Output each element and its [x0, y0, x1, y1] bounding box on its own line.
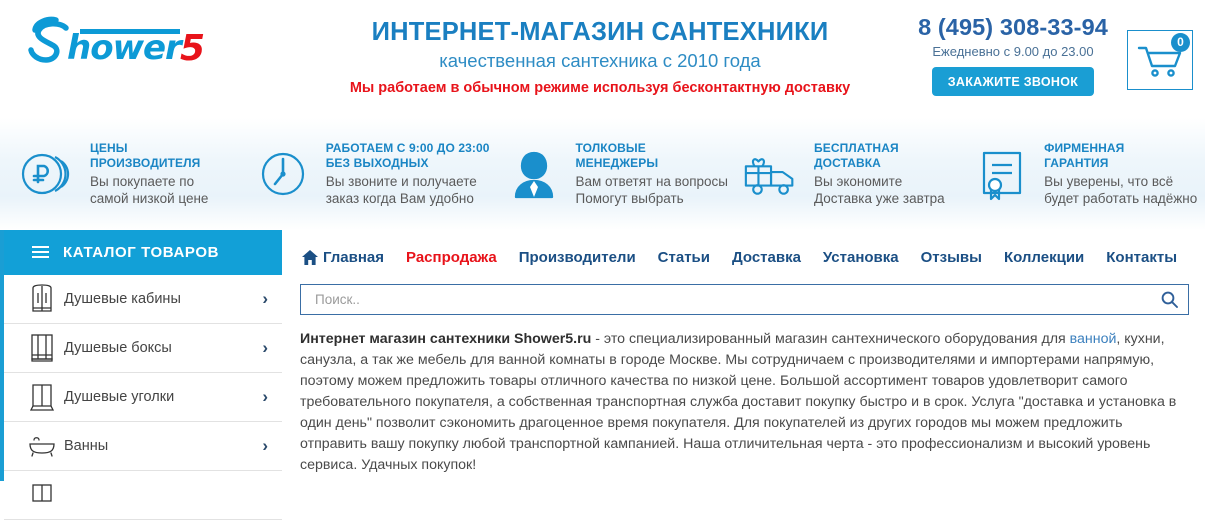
main-navigation: Главная Распродажа Производители Статьи …	[300, 242, 1189, 272]
benefit-desc-2: заказ когда Вам удобно	[326, 191, 490, 207]
callback-button[interactable]: ЗАКАЖИТЕ ЗВОНОК	[932, 67, 1094, 97]
catalog-header[interactable]: КАТАЛОГ ТОВАРОВ	[4, 230, 282, 275]
sidebar-item-partial[interactable]	[4, 471, 282, 520]
sidebar-item-label: Душевые боксы	[64, 340, 262, 356]
nav-item-contacts[interactable]: Контакты	[1106, 249, 1177, 266]
benefit-item-guarantee: ФИРМЕННАЯ ГАРАНТИЯ Вы уверены, что всё б…	[958, 141, 1205, 207]
search-bar[interactable]	[300, 284, 1189, 315]
cabinet-icon	[26, 482, 58, 508]
benefit-desc: Вы звоните и получаете	[326, 174, 490, 190]
phone-number[interactable]: 8 (495) 308-33-94	[913, 16, 1113, 40]
clock-icon	[254, 145, 314, 203]
intro-lead: Интернет магазин сантехники Shower5.ru	[300, 331, 591, 347]
search-icon[interactable]	[1161, 291, 1178, 308]
benefit-title: БЕСПЛАТНАЯ	[814, 141, 945, 156]
nav-item-sale[interactable]: Распродажа	[406, 249, 497, 266]
shower-box-icon	[26, 333, 58, 363]
cart-button[interactable]: 0	[1127, 30, 1193, 90]
intro-part2: , кухни, санузла, а так же мебель для ва…	[300, 331, 1176, 473]
nav-item-home[interactable]: Главная	[323, 249, 384, 266]
site-logo[interactable]: hower 5	[22, 14, 237, 72]
content-area: КАТАЛОГ ТОВАРОВ Душ	[0, 230, 1205, 481]
benefit-title-2: ДОСТАВКА	[814, 156, 945, 171]
benefit-title: РАБОТАЕМ С 9:00 ДО 23:00	[326, 141, 490, 156]
intro-link-bathroom[interactable]: ванной	[1070, 331, 1117, 347]
benefit-item-managers: ТОЛКОВЫЕ МЕНЕДЖЕРЫ Вам ответят на вопрос…	[490, 141, 728, 207]
benefit-title-2: БЕЗ ВЫХОДНЫХ	[326, 156, 490, 171]
ruble-coins-icon	[18, 145, 78, 203]
catalog-sidebar: КАТАЛОГ ТОВАРОВ Душ	[0, 230, 282, 481]
page-subtitle: качественная сантехника с 2010 года	[300, 50, 900, 71]
sidebar-item-shower-boxes[interactable]: Душевые боксы ›	[4, 324, 282, 373]
intro-part1: - это специализированный магазин сантехн…	[591, 331, 1069, 347]
shower-corner-icon	[26, 382, 58, 412]
nav-item-collections[interactable]: Коллекции	[1004, 249, 1084, 266]
certificate-guarantee-icon	[972, 145, 1032, 203]
page-title: ИНТЕРНЕТ-МАГАЗИН САНТЕХНИКИ	[300, 18, 900, 46]
chevron-right-icon: ›	[262, 338, 268, 358]
home-icon	[302, 250, 318, 265]
benefit-desc: Вы экономите	[814, 174, 945, 190]
nav-item-delivery[interactable]: Доставка	[732, 249, 801, 266]
working-hours: Ежедневно с 9.00 до 23.00	[913, 44, 1113, 59]
benefit-item-prices: ЦЕНЫ ПРОИЗВОДИТЕЛЯ Вы покупаете по самой…	[0, 141, 240, 207]
svg-text:5: 5	[180, 28, 205, 69]
benefit-desc-2: Доставка уже завтра	[814, 191, 945, 207]
cart-count-badge: 0	[1171, 33, 1190, 52]
covid-notice: Мы работаем в обычном режиме используя б…	[300, 80, 900, 97]
shower-cabin-icon	[26, 284, 58, 314]
chevron-right-icon: ›	[262, 387, 268, 407]
sidebar-item-shower-corners[interactable]: Душевые уголки ›	[4, 373, 282, 422]
benefit-desc-2: будет работать надёжно	[1044, 191, 1197, 207]
nav-item-manufacturers[interactable]: Производители	[519, 249, 636, 266]
benefits-bar: ЦЕНЫ ПРОИЗВОДИТЕЛЯ Вы покупаете по самой…	[0, 118, 1205, 230]
page-root: hower 5 ИНТЕРНЕТ-МАГАЗИН САНТЕХНИКИ каче…	[0, 0, 1205, 481]
search-input[interactable]	[313, 291, 1161, 308]
benefit-desc: Вы уверены, что всё	[1044, 174, 1197, 190]
catalog-header-label: КАТАЛОГ ТОВАРОВ	[63, 244, 219, 261]
header-slogan-block: ИНТЕРНЕТ-МАГАЗИН САНТЕХНИКИ качественная…	[300, 18, 900, 97]
benefit-title: ЦЕНЫ	[90, 141, 208, 156]
main-column: Главная Распродажа Производители Статьи …	[282, 230, 1205, 481]
header-contact-block: 8 (495) 308-33-94 Ежедневно с 9.00 до 23…	[913, 16, 1113, 96]
delivery-truck-gift-icon	[742, 145, 802, 203]
site-header: hower 5 ИНТЕРНЕТ-МАГАЗИН САНТЕХНИКИ каче…	[0, 0, 1205, 118]
chevron-right-icon: ›	[262, 289, 268, 309]
benefit-title-2: ГАРАНТИЯ	[1044, 156, 1197, 171]
sidebar-item-label: Ванны	[64, 438, 262, 454]
nav-item-installation[interactable]: Установка	[823, 249, 899, 266]
nav-item-articles[interactable]: Статьи	[658, 249, 710, 266]
sidebar-item-shower-cabins[interactable]: Душевые кабины ›	[4, 275, 282, 324]
chevron-right-icon: ›	[262, 436, 268, 456]
bathtub-icon	[26, 435, 58, 457]
benefit-desc-2: Помогут выбрать	[576, 191, 728, 207]
sidebar-item-label: Душевые кабины	[64, 291, 262, 307]
manager-person-icon	[504, 145, 564, 203]
sidebar-item-label: Душевые уголки	[64, 389, 262, 405]
catalog-list: Душевые кабины ›	[4, 275, 282, 520]
nav-item-reviews[interactable]: Отзывы	[921, 249, 982, 266]
benefit-title-2: ПРОИЗВОДИТЕЛЯ	[90, 156, 208, 171]
benefit-title: ТОЛКОВЫЕ	[576, 141, 728, 156]
benefit-title-2: МЕНЕДЖЕРЫ	[576, 156, 728, 171]
benefit-item-delivery: БЕСПЛАТНАЯ ДОСТАВКА Вы экономите Доставк…	[728, 141, 958, 207]
benefit-desc: Вам ответят на вопросы	[576, 174, 728, 190]
benefit-title: ФИРМЕННАЯ	[1044, 141, 1197, 156]
benefit-item-hours: РАБОТАЕМ С 9:00 ДО 23:00 БЕЗ ВЫХОДНЫХ Вы…	[240, 141, 490, 207]
intro-paragraph: Интернет магазин сантехники Shower5.ru -…	[300, 329, 1189, 476]
benefit-desc-2: самой низкой цене	[90, 191, 208, 207]
hamburger-menu-icon	[32, 246, 49, 259]
sidebar-item-bathtubs[interactable]: Ванны ›	[4, 422, 282, 471]
benefit-desc: Вы покупаете по	[90, 174, 208, 190]
